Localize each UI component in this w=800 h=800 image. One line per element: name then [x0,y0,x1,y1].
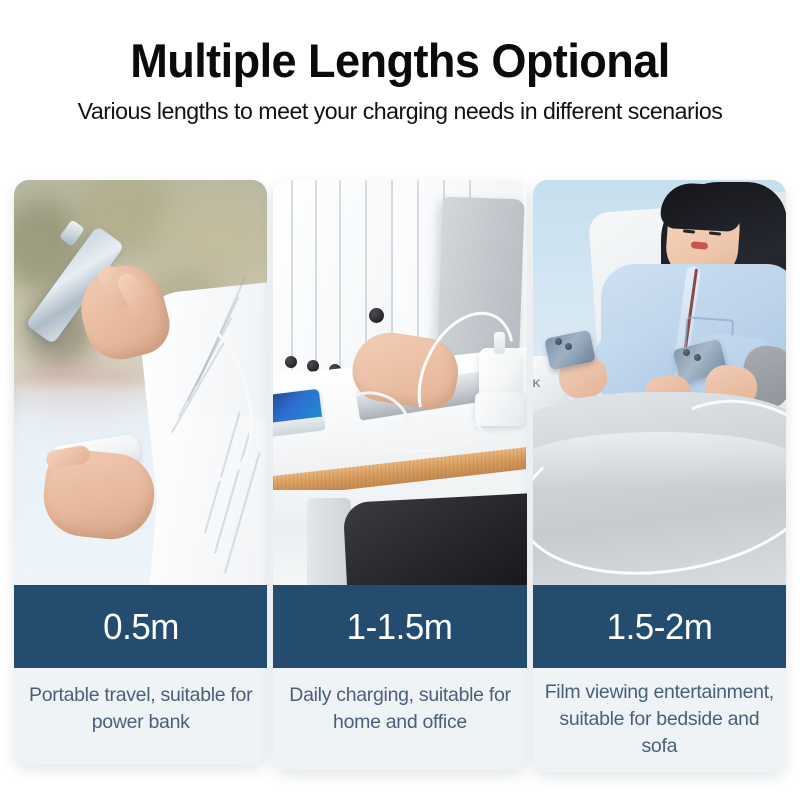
scenario-card-1.5-2m[interactable]: K 1.5-2m Film viewing entertainment, sui… [533,180,786,772]
product-box-logo: K [533,378,541,390]
scene-image-power-bank [14,180,267,585]
scenario-card-row: 0.5m Portable travel, suitable for power… [14,180,786,772]
scenario-card-0.5m[interactable]: 0.5m Portable travel, suitable for power… [14,180,267,765]
length-band-0: 0.5m [14,585,267,668]
scene-image-desk-laptop [273,180,526,585]
length-label: 1.5-2m [606,606,712,648]
scene-image-bedside: K [533,180,786,585]
card-caption: Daily charging, suitable for home and of… [273,668,526,770]
length-band-2: 1.5-2m [533,585,786,668]
scenario-card-1-1.5m[interactable]: 1-1.5m Daily charging, suitable for home… [273,180,526,770]
page-header: Multiple Lengths Optional Various length… [0,0,800,125]
length-label: 1-1.5m [347,606,453,648]
card-caption: Film viewing entertainment, suitable for… [533,668,786,772]
card-caption: Portable travel, suitable for power bank [14,668,267,765]
length-band-1: 1-1.5m [273,585,526,668]
length-label: 0.5m [103,606,179,648]
page-subtitle: Various lengths to meet your charging ne… [6,98,794,125]
page-title: Multiple Lengths Optional [16,36,784,85]
